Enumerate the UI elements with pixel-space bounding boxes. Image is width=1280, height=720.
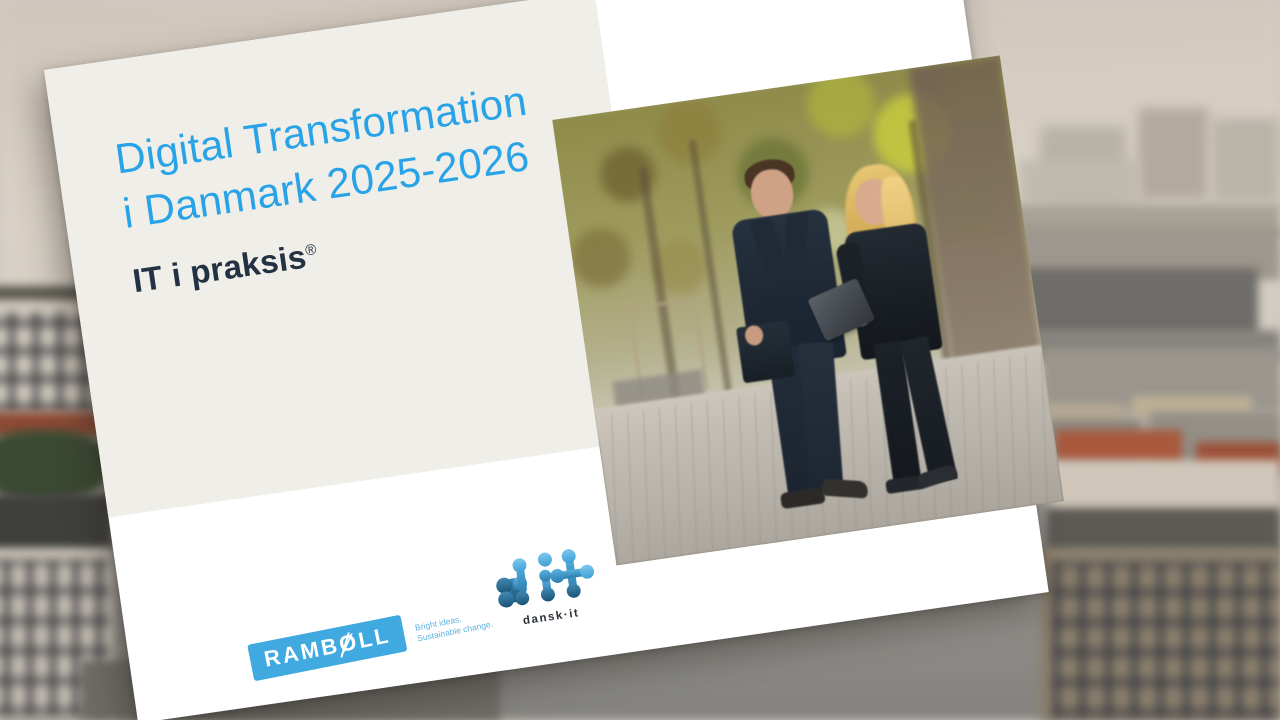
ramboll-tagline: Bright ideas. Sustainable change.	[414, 608, 494, 645]
background-tree	[0, 430, 108, 500]
cover-photograph	[552, 56, 1064, 566]
background-building	[1138, 108, 1208, 200]
ramboll-wordmark: RAMBØLL	[262, 622, 393, 671]
report-cover[interactable]: Digital Transformation i Danmark 2025-20…	[44, 0, 1049, 720]
photo-man-lapel	[784, 212, 808, 282]
background-roof	[1018, 268, 1258, 338]
background-window-grid	[1052, 562, 1278, 718]
dansk-it-logo[interactable]: dansk·it	[488, 542, 608, 648]
registered-trademark-icon: ®	[304, 241, 318, 259]
background-roof	[1046, 508, 1280, 552]
background-building	[1212, 118, 1280, 202]
photo-laptop-bag	[736, 321, 795, 384]
background-building	[1050, 460, 1280, 514]
background-building	[1020, 160, 1140, 204]
background-red-roof	[1056, 430, 1182, 464]
background-roof	[0, 494, 112, 552]
